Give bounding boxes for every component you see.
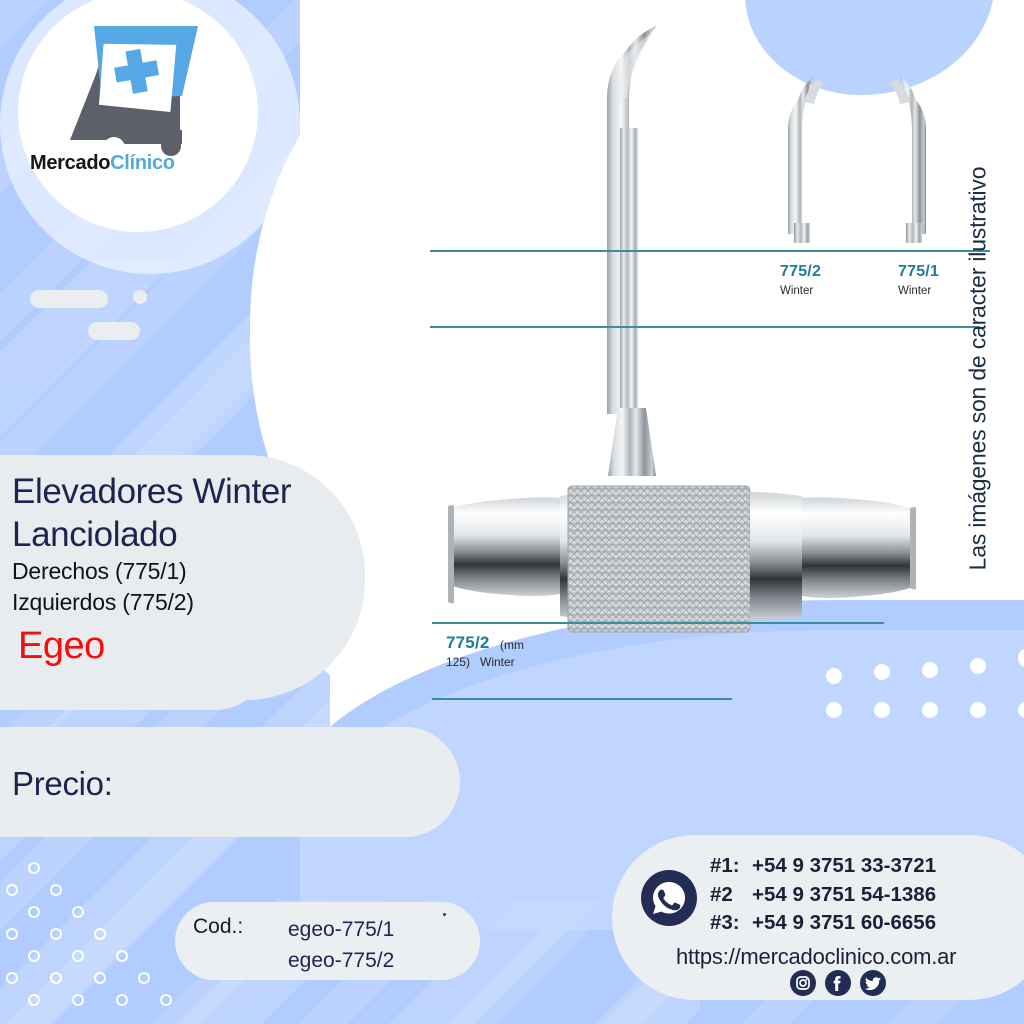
main-mm-open: (mm	[500, 638, 524, 652]
phone-number-0: +54 9 3751 33-3721	[752, 854, 936, 877]
photo-rule-top	[430, 250, 990, 252]
phone-number-2: +54 9 3751 60-6656	[752, 911, 936, 934]
product-manufacturer: Egeo	[18, 622, 432, 670]
product-title-line2: Lanciolado	[12, 513, 432, 556]
thumb-code-1: 775/1	[898, 263, 939, 281]
whatsapp-icon[interactable]	[641, 870, 697, 926]
website-link[interactable]: https://mercadoclinico.com.ar	[676, 944, 956, 970]
phone-list: #1:+54 9 3751 33-3721 #2+54 9 3751 54-13…	[710, 852, 936, 938]
decor-dot-code	[443, 913, 446, 916]
product-variant-right: Derechos (775/1)	[12, 556, 432, 587]
code-value-0: egeo-775/1	[288, 914, 394, 945]
phone-tag-0: #1:	[710, 852, 752, 881]
main-mm-close: 125)	[446, 655, 470, 669]
thumb-series-1: Winter	[898, 285, 931, 297]
product-title-block: Elevadores Winter Lanciolado Derechos (7…	[12, 470, 432, 670]
social-icons	[790, 970, 886, 996]
photo-rule-bottom	[432, 698, 732, 700]
code-label: Cod.:	[193, 915, 243, 939]
twitter-icon[interactable]	[860, 970, 886, 996]
phone-row-1[interactable]: #2+54 9 3751 54-1386	[710, 881, 936, 910]
product-photo: 775/2 Winter 775/1 Winter 775/2 (mm 125)…	[420, 8, 1000, 708]
decor-pill-2	[88, 322, 140, 340]
illustrative-disclaimer: Las imágenes son de caracter ilustrativo	[965, 109, 992, 629]
thumb-code-0: 775/2	[780, 263, 821, 281]
phone-number-1: +54 9 3751 54-1386	[752, 883, 936, 906]
price-label: Precio:	[12, 765, 113, 803]
logo-word-mercado: Mercado	[30, 152, 110, 174]
logo-wordmark: MercadoClínico	[30, 152, 230, 175]
photo-rule-lower	[432, 622, 884, 624]
decor-pill-1	[30, 290, 108, 308]
thumb-series-0: Winter	[780, 285, 813, 297]
instagram-icon[interactable]	[790, 970, 816, 996]
poster-canvas: MercadoClínico	[0, 0, 1024, 1024]
photo-rule-middle	[430, 326, 980, 328]
code-value-1: egeo-775/2	[288, 945, 394, 976]
decor-dot-1	[133, 290, 147, 304]
logo-word-clinico: Clínico	[110, 152, 175, 174]
phone-tag-2: #3:	[710, 909, 752, 938]
main-code: 775/2	[446, 633, 490, 653]
ring-dot-grid-bottom-left	[0, 862, 198, 1024]
phone-row-2[interactable]: #3:+54 9 3751 60-6656	[710, 909, 936, 938]
phone-row-0[interactable]: #1:+54 9 3751 33-3721	[710, 852, 936, 881]
main-series: Winter	[480, 655, 515, 669]
code-values: egeo-775/1 egeo-775/2	[288, 914, 394, 976]
phone-tag-1: #2	[710, 881, 752, 910]
facebook-icon[interactable]	[825, 970, 851, 996]
product-title-line1: Elevadores Winter	[12, 470, 432, 513]
product-variant-left: Izquierdos (775/2)	[12, 587, 432, 618]
